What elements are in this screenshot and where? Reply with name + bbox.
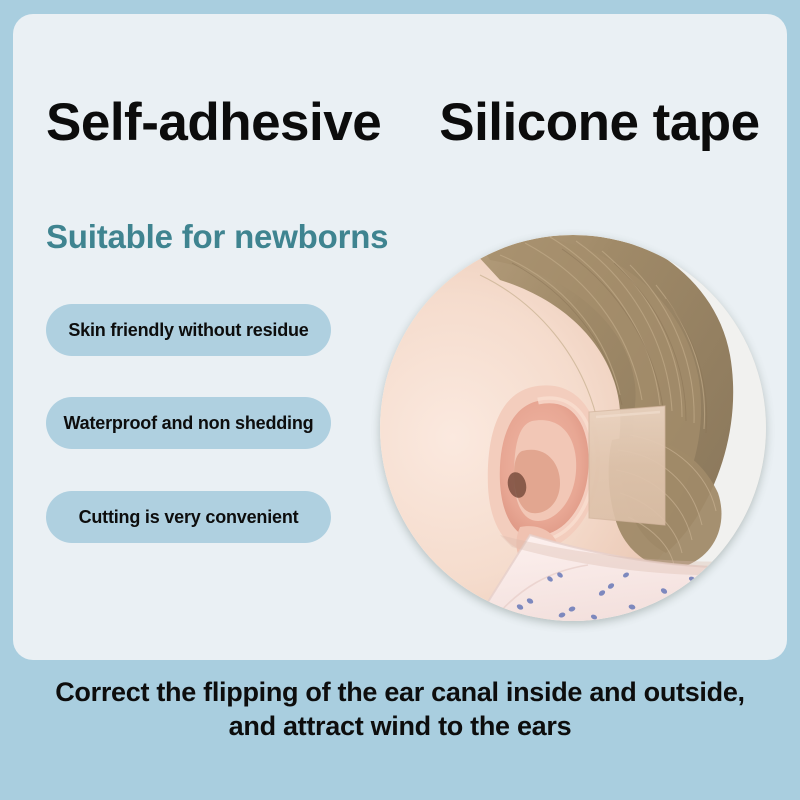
- feature-pill-skin-friendly: Skin friendly without residue: [46, 304, 331, 356]
- caption-line-two: and attract wind to the ears: [229, 709, 572, 743]
- photo-illustration: [380, 235, 766, 621]
- baby-ear-with-silicone-tape-photo: [380, 235, 766, 621]
- caption-line-one: Correct the flipping of the ear canal in…: [55, 675, 745, 709]
- title-part-one: Self-adhesive: [46, 96, 381, 149]
- feature-pill-cutting: Cutting is very convenient: [46, 491, 331, 543]
- bottom-caption: Correct the flipping of the ear canal in…: [0, 675, 800, 775]
- feature-pill-label: Skin friendly without residue: [68, 320, 308, 341]
- title-part-two: Silicone tape: [439, 96, 759, 149]
- content-panel: Self-adhesive Silicone tape Suitable for…: [13, 14, 787, 660]
- feature-pill-waterproof: Waterproof and non shedding: [46, 397, 331, 449]
- subtitle: Suitable for newborns: [46, 218, 388, 256]
- feature-pill-label: Cutting is very convenient: [79, 507, 299, 528]
- feature-pill-label: Waterproof and non shedding: [64, 413, 314, 434]
- page-title: Self-adhesive Silicone tape: [46, 86, 766, 158]
- product-poster: Self-adhesive Silicone tape Suitable for…: [0, 0, 800, 800]
